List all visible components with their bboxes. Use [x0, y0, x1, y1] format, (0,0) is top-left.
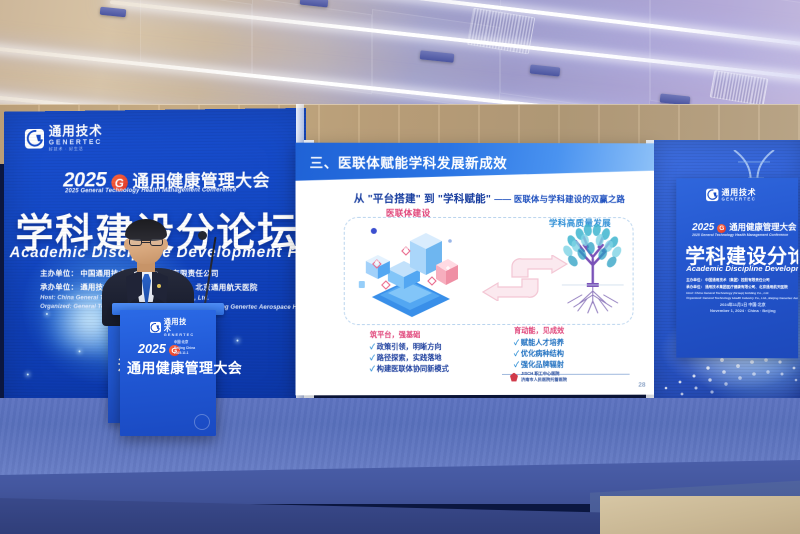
banner-conference-en: 2025 General Technology Health Managemen… — [692, 233, 788, 237]
banner-hosts: 主办单位： 中国通用技术（集团）控股有限责任公司 承办单位： 通用技术集团医疗健… — [686, 278, 798, 301]
tree-growth-illustration — [554, 221, 632, 319]
right-bullet-item: 赋能人才培养 — [514, 337, 564, 348]
g-mark-icon: G — [717, 224, 726, 233]
logo-english-name: GENERTEC — [49, 139, 103, 146]
right-bullet-heading: 育动能，见成效 — [514, 325, 564, 336]
banner-organizer-cn: 承办单位： 通用技术集团医疗健康有限公司、北京通用航天医院 — [686, 285, 798, 290]
logo-chinese-name: 通用技术 — [722, 188, 757, 196]
hospital-logo-icon — [510, 372, 518, 381]
banner-year: 2025 — [692, 222, 714, 233]
left-bullet-item: 构建医联体协同新模式 — [370, 364, 449, 375]
podium-meta: 中国·北京 Beijing China 2025.11.1 — [174, 340, 195, 357]
podium-year: 2025 — [138, 342, 166, 356]
hall-wood-floor — [600, 496, 800, 534]
genertec-logo: 通用技术 GENERTEC — [150, 318, 194, 337]
logo-chinese-name: 通用技术 — [164, 318, 195, 332]
slide-subtitle-main: 从 "平台搭建" 到 "学科赋能" — [354, 193, 491, 205]
genertec-emblem-icon — [25, 128, 44, 148]
presentation-screen: 三、医联体赋能学科发展新成效 从 "平台搭建" 到 "学科赋能" —— 医联体与… — [296, 143, 656, 396]
left-bullet-item: 路径探索，实践落地 — [370, 352, 449, 363]
genertec-logo: 通用技术 GENERTEC 好技术 · 好生活 — [25, 124, 103, 151]
slide-title: 三、医联体赋能学科发展新成效 — [310, 152, 508, 172]
speaker-lapel-pin — [157, 284, 161, 288]
banner-forum-en: Academic Discipline Development Forum — [686, 264, 798, 273]
speaker-podium: 通用技术 GENERTEC 2025 G 中国·北京 Beijing China… — [120, 310, 216, 436]
slide-subtitle: 从 "平台搭建" 到 "学科赋能" —— 医联体与学科建设的双赢之路 — [354, 191, 625, 206]
logo-english-name: GENERTEC — [722, 197, 757, 201]
right-bullet-item: 优化病种结构 — [514, 348, 564, 359]
logo-chinese-name: 通用技术 — [49, 124, 103, 137]
conference-name-en: 2025 General Technology Health Managemen… — [65, 186, 236, 194]
slide-subtitle-tail: —— 医联体与学科建设的双赢之路 — [494, 194, 625, 204]
podium-meta-date: 2025.11.1 — [174, 351, 195, 357]
conference-photo-scene: 通用技术 GENERTEC 好技术 · 好生活 2025 G 通用健康管理大会 … — [0, 0, 800, 534]
logo-tagline: 好技术 · 好生活 — [49, 147, 103, 152]
banner-host-en: Host: China General Technology (Group) H… — [686, 291, 798, 295]
podium-watermark-icon — [194, 414, 210, 430]
banner-conference-cn: 通用健康管理大会 — [729, 221, 796, 233]
ceiling-lamp-housing — [100, 7, 127, 18]
podium-conference-title: 通用健康管理大会 — [127, 358, 242, 378]
isometric-platform-illustration — [358, 223, 464, 321]
slide-footer: JISCH 职工中心医院 济南市人民医院托管医院 — [510, 369, 630, 385]
microphone-head-icon — [198, 231, 207, 240]
logo-english-name: GENERTEC — [164, 333, 195, 337]
banner-organizer-en: Organized: General Technology Health Ind… — [686, 296, 798, 300]
genertec-emblem-icon — [150, 322, 161, 333]
left-bullet-list: 筑平台，强基础 政策引领，明晰方向 路径探索，实践落地 构建医联体协同新模式 — [370, 329, 449, 375]
banner-host-cn: 主办单位： 中国通用技术（集团）控股有限责任公司 — [686, 278, 798, 283]
left-bullet-item: 政策引领，明晰方向 — [370, 341, 449, 352]
genertec-logo: 通用技术 GENERTEC — [706, 188, 756, 202]
banner-date-en: November 1, 2024 · China · Beijing — [710, 308, 776, 314]
slide-footer-line2: 济南市人民医院托管医院 — [521, 377, 567, 383]
banner-date: 2024年11月1日 中国·北京 November 1, 2024 · Chin… — [710, 302, 776, 314]
slide-page-number: 28 — [638, 382, 645, 389]
genertec-emblem-icon — [706, 189, 718, 201]
banner-conference-row: 2025 G 通用健康管理大会 — [692, 221, 796, 233]
slide-title-bar: 三、医联体赋能学科发展新成效 — [296, 143, 656, 182]
left-bullet-heading: 筑平台，强基础 — [370, 329, 449, 340]
right-bullet-list: 育动能，见成效 赋能人才培养 优化病种结构 强化品牌辐射 — [514, 325, 564, 371]
speaker-glasses-icon — [129, 238, 163, 247]
right-standing-banner: 通用技术 GENERTEC 2025 G 通用健康管理大会 2025 Gener… — [676, 178, 798, 359]
